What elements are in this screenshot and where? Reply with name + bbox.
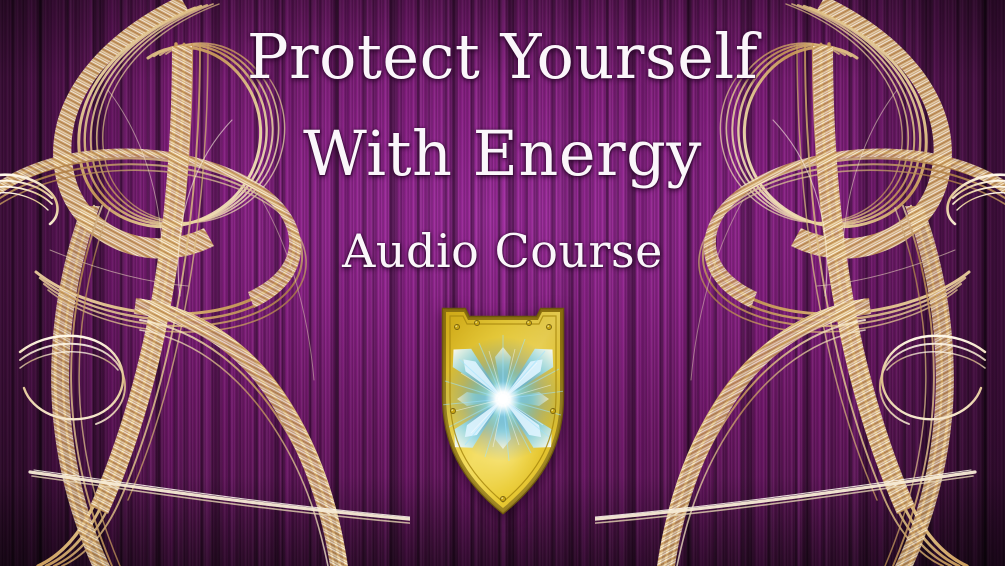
banner-image: Protect Yourself With Energy Audio Cours… (0, 0, 1005, 566)
energy-burst (441, 335, 565, 461)
gold-ribbon-swirl-right (595, 0, 1005, 566)
gold-ribbon-swirl-left (0, 0, 410, 566)
shield-emblem (433, 303, 573, 519)
